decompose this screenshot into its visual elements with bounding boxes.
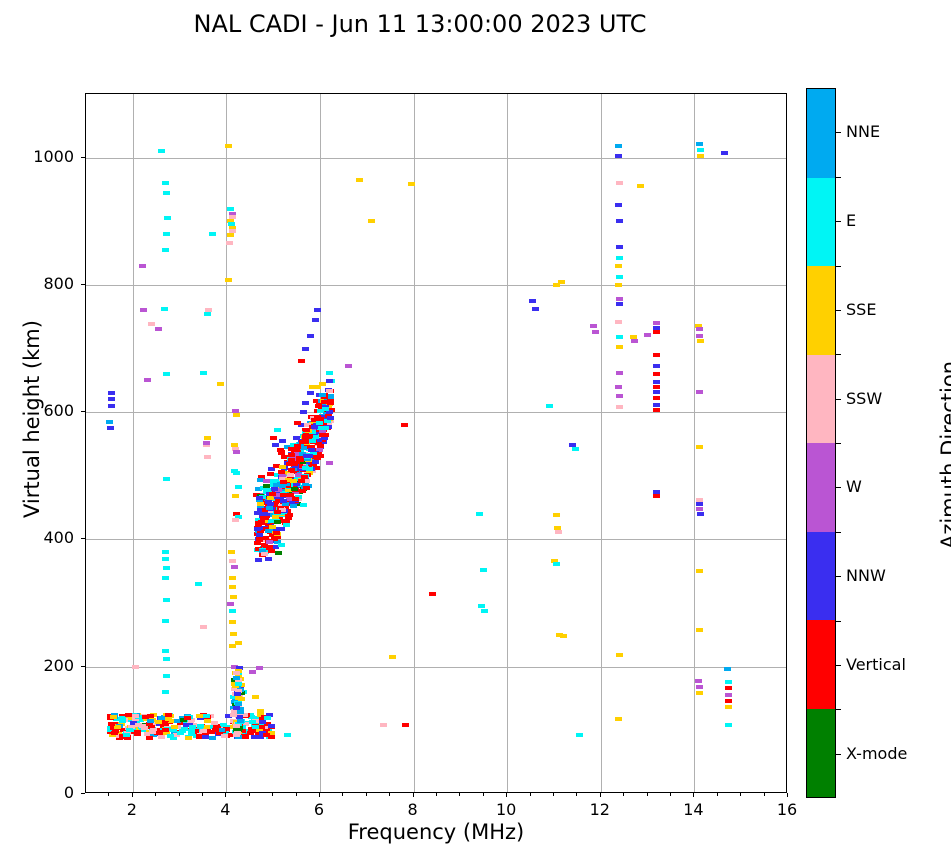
echo-marker [123,733,130,737]
echo-marker [171,725,178,729]
echo-marker [134,730,141,734]
echo-marker [195,582,202,586]
echo-marker [275,551,282,555]
echo-marker [309,439,316,443]
y-tick [81,538,85,539]
echo-marker [696,685,703,689]
data-layer [86,94,786,792]
x-tick-label: 14 [663,800,723,819]
echo-marker [200,371,207,375]
echo-marker [203,714,210,718]
echo-marker [256,538,263,542]
colorbar-band-vertical[interactable] [807,620,835,709]
echo-marker [287,473,294,477]
echo-marker [300,410,307,414]
echo-marker [298,359,305,363]
echo-marker [228,550,235,554]
echo-marker [696,691,703,695]
echo-marker [616,256,623,260]
echo-marker [653,330,660,334]
echo-marker [288,458,295,462]
echo-marker [616,371,623,375]
echo-marker [558,280,565,284]
colorbar-band-sse[interactable] [807,266,835,355]
echo-marker [615,203,622,207]
echo-marker [322,407,329,411]
echo-marker [532,307,539,311]
echo-marker [319,393,326,397]
echo-marker [262,516,269,520]
echo-marker [653,408,660,412]
colorbar-band-nne[interactable] [807,89,835,178]
echo-marker [292,497,299,501]
echo-marker [229,215,236,219]
echo-marker [267,472,274,476]
echo-marker [616,219,623,223]
y-tick [81,411,85,412]
y-tick [81,157,85,158]
echo-marker [203,441,210,445]
x-tick-label: 16 [757,800,817,819]
echo-marker [480,568,487,572]
y-tick-label: 1000 [14,147,74,166]
echo-marker [111,731,118,735]
echo-marker [251,735,258,739]
plot-area[interactable] [85,93,787,793]
echo-marker [696,327,703,331]
x-tick-minor [179,793,180,796]
echo-marker [560,634,567,638]
echo-marker [291,487,298,491]
echo-marker [174,719,181,723]
colorbar-label-x-mode: X-mode [846,744,907,763]
echo-marker [529,299,536,303]
echo-marker [209,736,216,740]
colorbar-tick [836,399,841,400]
echo-marker [119,719,126,723]
echo-marker [163,372,170,376]
echo-marker [163,566,170,570]
echo-marker [229,644,236,648]
x-tick-label: 10 [476,800,536,819]
echo-marker [576,733,583,737]
echo-marker [653,490,660,494]
echo-marker [311,425,318,429]
echo-marker [317,417,324,421]
echo-marker [653,390,660,394]
echo-marker [696,142,703,146]
echo-marker [616,653,623,657]
x-tick-label: 8 [383,800,443,819]
echo-marker [126,728,133,732]
echo-marker [163,598,170,602]
echo-marker [162,181,169,185]
echo-marker [481,609,488,613]
echo-marker [235,682,242,686]
echo-marker [132,714,139,718]
echo-marker [256,533,263,537]
echo-marker [211,721,218,725]
x-tick-label: 2 [102,800,162,819]
x-tick [132,793,133,797]
echo-marker [200,729,207,733]
echo-marker [429,592,436,596]
echo-marker [269,492,276,496]
x-tick-minor [202,793,203,796]
x-axis-label: Frequency (MHz) [85,820,787,844]
echo-marker [272,515,279,519]
echo-marker [285,514,292,518]
x-tick-minor [389,793,390,796]
echo-marker [165,717,172,721]
x-tick-minor [108,793,109,796]
echo-marker [324,419,331,423]
echo-marker [725,723,732,727]
echo-marker [165,713,172,717]
echo-marker [217,382,224,386]
echo-marker [232,518,239,522]
colorbar-boundary-tick [836,532,841,533]
colorbar-boundary-tick [836,709,841,710]
echo-marker [232,494,239,498]
echo-marker [321,400,328,404]
x-tick-minor [576,793,577,796]
echo-marker [653,396,660,400]
ionogram-figure: NAL CADI - Jun 11 13:00:00 2023 UTC 2468… [0,0,951,856]
echo-marker [269,525,276,529]
echo-marker [158,149,165,153]
colorbar-boundary-tick [836,177,841,178]
echo-marker [653,353,660,357]
echo-marker [162,248,169,252]
echo-marker [108,722,115,726]
x-tick [506,793,507,797]
echo-marker [163,674,170,678]
echo-marker [300,446,307,450]
echo-marker [326,379,333,383]
echo-marker [389,655,396,659]
echo-marker [234,692,241,696]
echo-marker [230,632,237,636]
y-tick [81,793,85,794]
colorbar-tick [836,310,841,311]
echo-marker [306,434,313,438]
echo-marker [345,364,352,368]
echo-marker [204,312,211,316]
echo-marker [255,558,262,562]
echo-marker [615,154,622,158]
x-tick-minor [670,793,671,796]
echo-marker [147,714,154,718]
echo-marker [283,523,290,527]
echo-marker [167,734,174,738]
echo-marker [721,151,728,155]
echo-marker [278,451,285,455]
x-tick [319,793,320,797]
echo-marker [279,439,286,443]
echo-marker [263,733,270,737]
echo-marker [238,697,245,701]
echo-marker [249,670,256,674]
echo-marker [478,604,485,608]
echo-marker [644,333,651,337]
echo-marker [616,394,623,398]
colorbar-label-ssw: SSW [846,389,882,408]
echo-marker [653,380,660,384]
colorbar-label-vertical: Vertical [846,655,906,674]
x-tick [600,793,601,797]
echo-marker [653,364,660,368]
echo-marker [615,144,622,148]
colorbar-title: Azimuth Direction [937,295,951,615]
echo-marker [212,728,219,732]
echo-marker [312,460,319,464]
echo-marker [553,562,560,566]
colorbar-boundary-tick [836,621,841,622]
echo-marker [258,725,265,729]
echo-marker [307,391,314,395]
echo-marker [653,385,660,389]
echo-marker [265,529,272,533]
echo-marker [303,428,310,432]
echo-marker [402,723,409,727]
echo-marker [616,297,623,301]
colorbar-boundary-tick [836,266,841,267]
echo-marker [227,602,234,606]
echo-marker [229,559,236,563]
colorbar-boundary-tick [836,354,841,355]
echo-marker [162,550,169,554]
echo-marker [110,715,117,719]
echo-marker [189,725,196,729]
echo-marker [184,716,191,720]
echo-marker [256,496,263,500]
x-tick-minor [483,793,484,796]
echo-marker [161,307,168,311]
x-tick-minor [647,793,648,796]
echo-marker [155,720,162,724]
echo-marker [232,409,239,413]
echo-marker [725,705,732,709]
echo-marker [637,184,644,188]
echo-marker [299,489,306,493]
echo-marker [188,729,195,733]
echo-marker [163,191,170,195]
echo-marker [725,693,732,697]
echo-marker [616,302,623,306]
echo-marker [725,699,732,703]
echo-marker [696,507,703,511]
echo-marker [177,731,184,735]
echo-marker [290,504,297,508]
colorbar-band-w[interactable] [807,443,835,532]
echo-marker [279,465,286,469]
echo-marker [653,372,660,376]
echo-marker [316,421,323,425]
echo-marker [274,520,281,524]
echo-marker [140,308,147,312]
echo-marker [252,695,259,699]
echo-marker [615,385,622,389]
echo-marker [237,710,244,714]
echo-marker [261,552,268,556]
echo-marker [148,322,155,326]
y-tick [81,666,85,667]
x-tick-minor [366,793,367,796]
echo-marker [695,679,702,683]
echo-marker [233,671,240,675]
colorbar-tick [836,221,841,222]
echo-marker [162,557,169,561]
echo-marker [401,423,408,427]
colorbar-label-w: W [846,477,862,496]
echo-marker [653,403,660,407]
echo-marker [135,723,142,727]
echo-marker [294,445,301,449]
echo-marker [615,283,622,287]
echo-marker [225,278,232,282]
x-tick-minor [272,793,273,796]
echo-marker [202,735,209,739]
colorbar-tick [836,132,841,133]
colorbar-tick [836,576,841,577]
x-tick-minor [530,793,531,796]
y-tick-label: 0 [14,783,74,802]
echo-marker [226,241,233,245]
x-tick-minor [740,793,741,796]
page-title: NAL CADI - Jun 11 13:00:00 2023 UTC [0,10,840,38]
echo-marker [162,649,169,653]
echo-marker [319,382,326,386]
echo-marker [697,154,704,158]
x-tick [413,793,414,797]
echo-marker [280,499,287,503]
x-tick-minor [342,793,343,796]
echo-marker [125,713,132,717]
echo-marker [315,404,322,408]
echo-marker [163,477,170,481]
echo-marker [631,339,638,343]
echo-marker [200,625,207,629]
colorbar[interactable] [806,88,836,798]
colorbar-band-ssw[interactable] [807,355,835,444]
echo-marker [162,619,169,623]
colorbar-tick [836,487,841,488]
x-tick-minor [553,793,554,796]
echo-marker [274,428,281,432]
y-axis-label: Virtual height (km) [20,259,44,579]
echo-marker [302,401,309,405]
echo-marker [233,450,240,454]
echo-marker [231,565,238,569]
echo-marker [254,527,261,531]
echo-marker [204,436,211,440]
echo-marker [616,335,623,339]
echo-marker [162,690,169,694]
echo-marker [592,330,599,334]
colorbar-label-sse: SSE [846,300,876,319]
echo-marker [233,706,240,710]
x-tick-minor [436,793,437,796]
echo-marker [408,182,415,186]
echo-marker [249,720,256,724]
echo-marker [476,512,483,516]
x-tick [225,793,226,797]
echo-marker [278,527,285,531]
echo-marker [265,500,272,504]
echo-marker [326,461,333,465]
echo-marker [162,728,169,732]
echo-marker [616,245,623,249]
echo-marker [107,426,114,430]
echo-marker [229,609,236,613]
echo-marker [209,232,216,236]
colorbar-label-e: E [846,211,856,230]
echo-marker [696,628,703,632]
echo-marker [227,207,234,211]
echo-marker [279,484,286,488]
echo-marker [297,458,304,462]
echo-marker [197,724,204,728]
echo-marker [696,390,703,394]
echo-marker [155,327,162,331]
echo-marker [265,557,272,561]
echo-marker [229,585,236,589]
echo-marker [725,680,732,684]
echo-marker [108,397,115,401]
echo-marker [615,320,622,324]
echo-marker [653,321,660,325]
echo-marker [555,530,562,534]
echo-marker [263,484,270,488]
echo-marker [326,389,333,393]
echo-marker [235,641,242,645]
echo-marker [249,729,256,733]
echo-marker [196,714,203,718]
x-tick-minor [459,793,460,796]
echo-marker [162,576,169,580]
echo-marker [233,413,240,417]
colorbar-band-nnw[interactable] [807,532,835,621]
echo-marker [230,595,237,599]
echo-marker [163,232,170,236]
x-tick-label: 12 [570,800,630,819]
echo-marker [356,178,363,182]
echo-marker [697,512,704,516]
echo-marker [302,347,309,351]
echo-marker [266,540,273,544]
echo-marker [314,308,321,312]
echo-marker [266,545,273,549]
echo-marker [696,498,703,502]
echo-marker [268,724,275,728]
echo-marker [235,485,242,489]
echo-marker [149,730,156,734]
echo-marker [696,445,703,449]
echo-marker [241,734,248,738]
colorbar-band-e[interactable] [807,178,835,267]
echo-marker [108,391,115,395]
echo-marker [204,455,211,459]
echo-marker [147,719,154,723]
echo-marker [300,503,307,507]
echo-marker [234,731,241,735]
echo-marker [270,436,277,440]
colorbar-band-x-mode[interactable] [807,709,835,798]
y-tick-label: 200 [14,656,74,675]
echo-marker [272,443,279,447]
x-tick-minor [623,793,624,796]
